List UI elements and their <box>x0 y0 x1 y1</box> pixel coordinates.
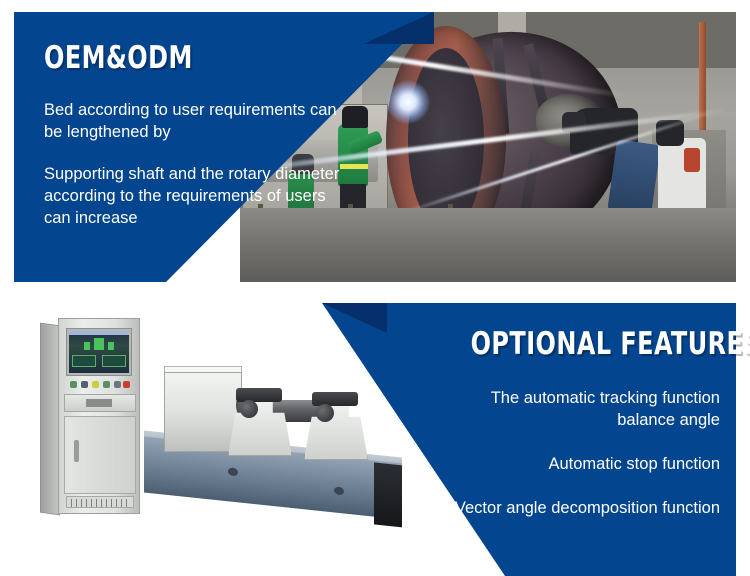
wall-pipe <box>699 22 706 142</box>
cabinet-button-5[interactable] <box>114 381 121 388</box>
machine-bed-end-cap <box>374 462 402 527</box>
cabinet-door-handle[interactable] <box>74 440 79 462</box>
bottom-text-block: OPTIONAL FEATURES The automatic tracking… <box>430 328 720 519</box>
cabinet-nameplate <box>86 399 112 407</box>
balancing-machine-photo <box>22 300 402 555</box>
display-panel-right <box>102 355 126 367</box>
worker-green-helmet <box>342 106 368 128</box>
promo-banner: OEM&ODM Bed according to user requiremen… <box>0 0 750 576</box>
pedestal-clamp-right <box>312 392 358 406</box>
pedestal-roller-right <box>316 404 334 422</box>
weld-arc-flash <box>386 80 430 124</box>
pedestal-clamp-left <box>236 388 282 402</box>
bottom-heading: OPTIONAL FEATURES <box>471 328 720 361</box>
feature-item-3: Vector angle decomposition function <box>430 497 720 519</box>
display-panel-left <box>72 355 96 367</box>
cabinet-button-3[interactable] <box>92 381 99 388</box>
cabinet-button-4[interactable] <box>103 381 110 388</box>
display-bar-b <box>84 342 90 350</box>
cabinet-vent-grill <box>66 496 134 508</box>
cabinet-button-1[interactable] <box>70 381 77 388</box>
worker-green-reflective-strip <box>340 164 368 169</box>
feature-item-2: Automatic stop function <box>430 453 720 475</box>
top-paragraph-2: Supporting shaft and the rotary diameter… <box>44 163 344 229</box>
top-paragraph-1: Bed according to user requirements can b… <box>44 99 344 143</box>
drive-motor-housing <box>164 372 242 452</box>
display-bar-a <box>94 338 104 350</box>
top-section: OEM&ODM Bed according to user requiremen… <box>0 0 750 290</box>
cabinet-side-panel <box>40 323 60 516</box>
cabinet-button-row[interactable] <box>68 380 130 389</box>
feature-item-1: The automatic tracking function balance … <box>430 387 720 431</box>
cabinet-button-2[interactable] <box>81 381 88 388</box>
display-titlebar <box>69 331 129 335</box>
cabinet-button-stop[interactable] <box>123 381 130 388</box>
worker-white-arm-patch <box>684 148 700 172</box>
display-bar-c <box>108 342 114 350</box>
bed-hole <box>228 467 238 476</box>
top-heading: OEM&ODM <box>44 42 302 75</box>
top-text-block: OEM&ODM Bed according to user requiremen… <box>44 42 344 229</box>
pedestal-roller-left <box>240 400 258 418</box>
bed-hole <box>334 486 344 495</box>
